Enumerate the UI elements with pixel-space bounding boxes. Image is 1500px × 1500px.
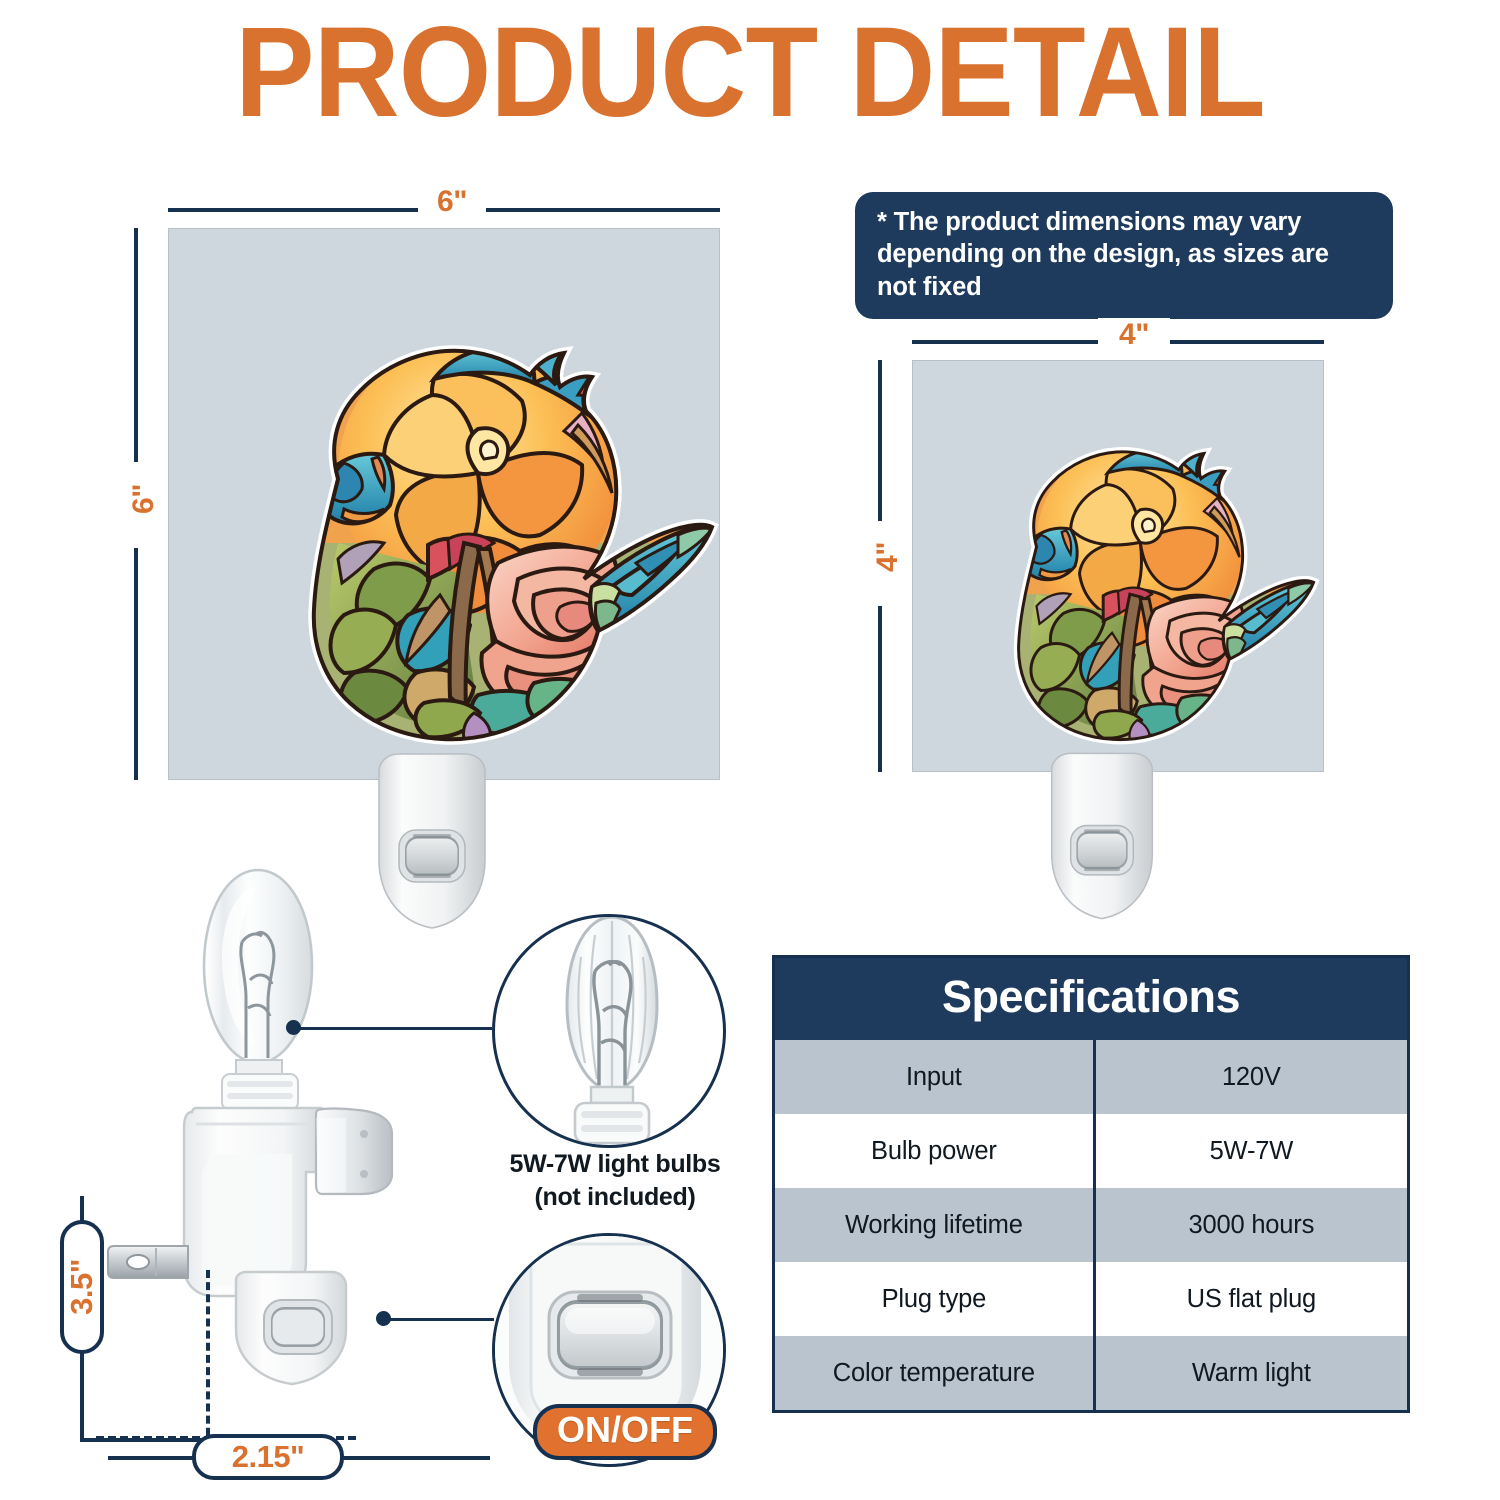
small-night-light-base — [1046, 750, 1158, 922]
bulb-caption-line2: (not included) — [455, 1181, 775, 1214]
switch-callout-dot — [376, 1311, 391, 1326]
spec-value: 3000 hours — [1094, 1188, 1407, 1262]
side-depth-value: 2.15" — [232, 1439, 305, 1475]
spec-key: Bulb power — [775, 1114, 1094, 1188]
specifications-table: Specifications Input 120V Bulb power 5W-… — [772, 955, 1410, 1413]
table-row: Input 120V — [775, 1040, 1407, 1114]
spec-value: Warm light — [1094, 1336, 1407, 1410]
switch-callout-leader — [382, 1318, 494, 1321]
spec-key: Input — [775, 1040, 1094, 1114]
large-duck-artwork — [178, 243, 718, 783]
table-row: Bulb power 5W-7W — [775, 1114, 1407, 1188]
bulb-callout-leader — [292, 1027, 492, 1030]
small-height-rule-top — [878, 360, 882, 526]
specifications-rows: Input 120V Bulb power 5W-7W Working life… — [775, 1040, 1407, 1410]
large-height-rule-top — [134, 228, 138, 462]
side-depth-rule-left — [108, 1456, 196, 1460]
bulb-callout-dot — [286, 1020, 301, 1035]
large-height-rule-bottom — [134, 548, 138, 780]
bulb-callout-circle — [492, 914, 726, 1148]
spec-value: US flat plug — [1094, 1262, 1407, 1336]
specifications-heading: Specifications — [775, 958, 1407, 1040]
side-depth-label: 2.15" — [192, 1434, 344, 1480]
side-height-value: 3.5" — [64, 1259, 100, 1315]
small-width-label: 4" — [1098, 318, 1170, 352]
large-height-label: 6" — [127, 463, 161, 535]
table-row: Plug type US flat plug — [775, 1262, 1407, 1336]
small-width-rule-left — [912, 340, 1102, 344]
large-width-rule-right — [470, 208, 720, 212]
product-detail-infographic: PRODUCT DETAIL * The product dimensions … — [0, 0, 1500, 1500]
small-duck-artwork — [918, 372, 1318, 772]
on-off-badge: ON/OFF — [533, 1404, 717, 1460]
bulb-caption-line1: 5W-7W light bulbs — [455, 1148, 775, 1181]
spec-value: 120V — [1094, 1040, 1407, 1114]
side-depth-dash-vertical — [206, 1270, 210, 1460]
spec-key: Plug type — [775, 1262, 1094, 1336]
small-height-rule-bottom — [878, 606, 882, 772]
small-width-rule-right — [1150, 340, 1324, 344]
side-height-label: 3.5" — [60, 1220, 104, 1354]
table-row: Working lifetime 3000 hours — [775, 1188, 1407, 1262]
spec-key: Working lifetime — [775, 1188, 1094, 1262]
side-view-night-light — [96, 862, 516, 1422]
large-width-label: 6" — [418, 185, 486, 219]
dimension-disclaimer-note: * The product dimensions may vary depend… — [855, 192, 1393, 319]
small-height-label: 4" — [871, 521, 905, 593]
large-width-rule-left — [168, 208, 418, 212]
table-row: Color temperature Warm light — [775, 1336, 1407, 1410]
page-title: PRODUCT DETAIL — [53, 8, 1448, 139]
spec-key: Color temperature — [775, 1336, 1094, 1410]
side-depth-rule-right — [330, 1456, 490, 1460]
spec-value: 5W-7W — [1094, 1114, 1407, 1188]
bulb-callout-caption: 5W-7W light bulbs (not included) — [455, 1148, 775, 1213]
